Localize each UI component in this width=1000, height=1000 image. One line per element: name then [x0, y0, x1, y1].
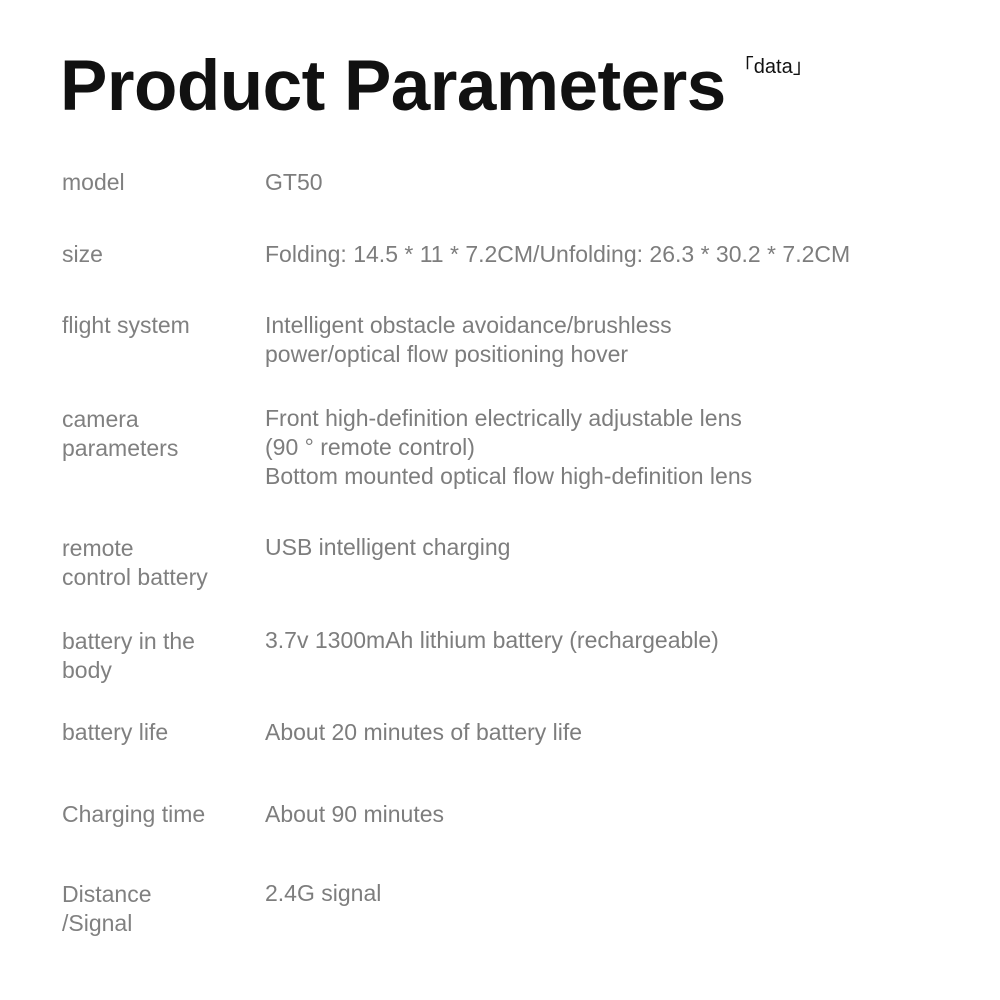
spec-value-battery-in-the-body: 3.7v 1300mAh lithium battery (rechargeab… [265, 626, 984, 655]
table-row: camera parameters Front high-definition … [0, 390, 1000, 518]
table-row: model GT50 [0, 150, 1000, 223]
spec-value-size: Folding: 14.5 * 11 * 7.2CM/Unfolding: 26… [265, 240, 984, 269]
spec-label-camera-parameters: camera parameters [62, 404, 265, 463]
page-title-superscript: 「data」 [734, 57, 813, 77]
spec-value-camera-parameters: Front high-definition electrically adjus… [265, 404, 984, 491]
page-title-text: Product Parameters [60, 44, 726, 130]
table-row: Distance /Signal 2.4G signal [0, 867, 1000, 947]
spec-label-remote-control-battery: remote control battery [62, 533, 265, 592]
product-parameters-page: Product Parameters「data」 model GT50 size… [0, 0, 1000, 1000]
spec-label-battery-life: battery life [62, 718, 265, 747]
table-row: Charging time About 90 minutes [0, 789, 1000, 867]
spec-label-distance-signal: Distance /Signal [62, 879, 265, 938]
spec-value-distance-signal: 2.4G signal [265, 879, 984, 908]
spec-label-charging-time: Charging time [62, 800, 265, 829]
table-row: battery life About 20 minutes of battery… [0, 707, 1000, 789]
page-title: Product Parameters「data」 [60, 44, 960, 134]
spec-label-model: model [62, 168, 265, 197]
spec-label-size: size [62, 240, 265, 269]
spec-label-battery-in-the-body: battery in the body [62, 626, 265, 685]
spec-value-model: GT50 [265, 168, 984, 197]
spec-label-flight-system: flight system [62, 311, 265, 340]
spec-value-flight-system: Intelligent obstacle avoidance/brushless… [265, 311, 984, 369]
specifications-table: model GT50 size Folding: 14.5 * 11 * 7.2… [0, 150, 1000, 947]
table-row: size Folding: 14.5 * 11 * 7.2CM/Unfoldin… [0, 223, 1000, 295]
spec-value-battery-life: About 20 minutes of battery life [265, 718, 984, 747]
table-row: remote control battery USB intelligent c… [0, 518, 1000, 614]
spec-value-remote-control-battery: USB intelligent charging [265, 533, 984, 562]
table-row: flight system Intelligent obstacle avoid… [0, 295, 1000, 390]
table-row: battery in the body 3.7v 1300mAh lithium… [0, 614, 1000, 707]
spec-value-charging-time: About 90 minutes [265, 800, 984, 829]
